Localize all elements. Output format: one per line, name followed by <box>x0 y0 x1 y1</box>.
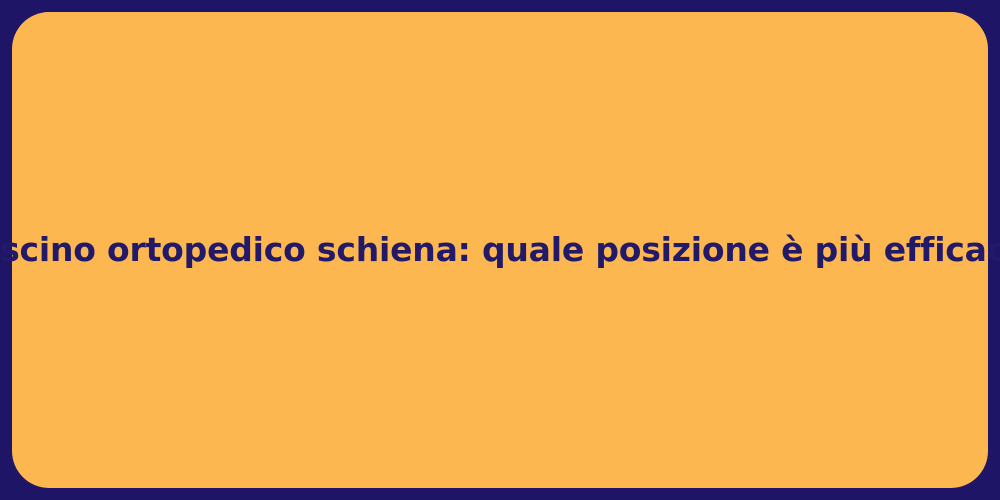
banner-frame: Cuscino ortopedico schiena: quale posizi… <box>0 0 1000 500</box>
page-title: Cuscino ortopedico schiena: quale posizi… <box>0 229 1000 270</box>
banner-card: Cuscino ortopedico schiena: quale posizi… <box>12 12 988 488</box>
